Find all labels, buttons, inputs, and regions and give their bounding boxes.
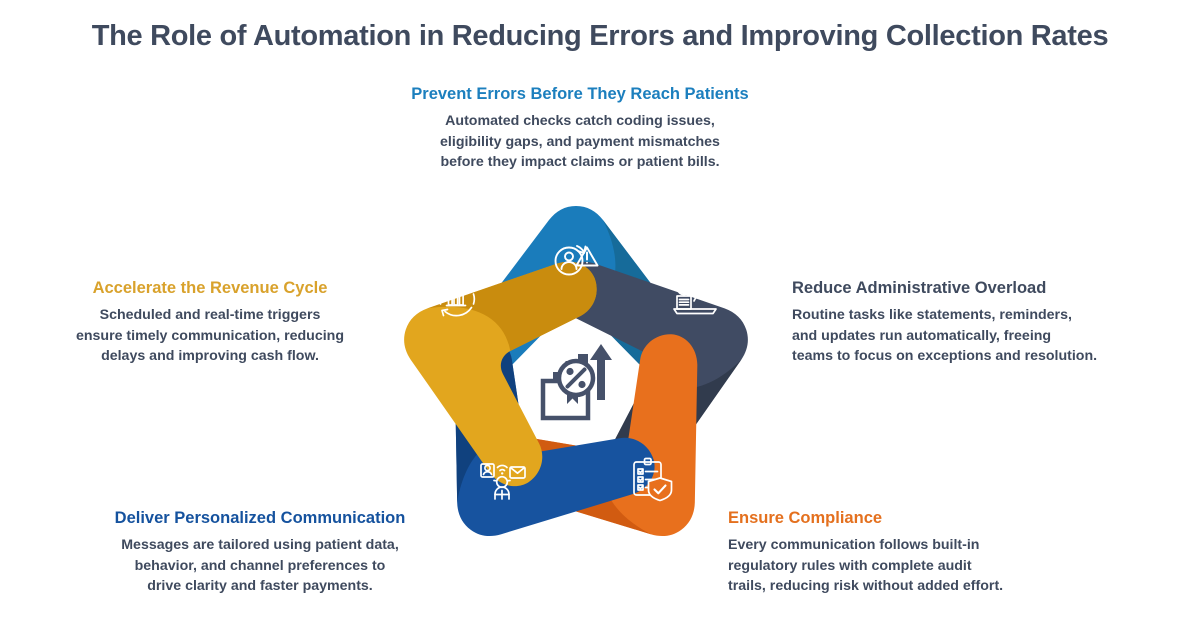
growth-chart-percent-icon [543,344,612,418]
section-prevent-errors: Prevent Errors Before They Reach Patient… [300,84,860,173]
section-body-line: Routine tasks like statements, reminders… [792,305,1132,326]
section-body-line: Automated checks catch coding issues, [300,111,860,132]
section-body-reduce-admin: Routine tasks like statements, reminders… [792,305,1132,368]
section-body-accelerate-revenue: Scheduled and real-time triggers ensure … [60,305,360,368]
section-body-line: ensure timely communication, reducing [60,326,360,347]
section-body-line: and updates run automatically, freeing [792,326,1132,347]
section-heading-prevent-errors: Prevent Errors Before They Reach Patient… [300,84,860,105]
section-body-prevent-errors: Automated checks catch coding issues, el… [300,111,860,174]
section-body-line: Scheduled and real-time triggers [60,305,360,326]
section-heading-reduce-admin: Reduce Administrative Overload [792,278,1132,299]
pentagon-cycle-diagram [356,170,796,600]
page-title: The Role of Automation in Reducing Error… [0,20,1200,53]
section-body-line: teams to focus on exceptions and resolut… [792,346,1132,367]
section-body-line: eligibility gaps, and payment mismatches [300,132,860,153]
section-body-line: delays and improving cash flow. [60,346,360,367]
section-accelerate-revenue: Accelerate the Revenue Cycle Scheduled a… [60,278,360,367]
section-heading-accelerate-revenue: Accelerate the Revenue Cycle [60,278,360,299]
section-reduce-admin: Reduce Administrative Overload Routine t… [792,278,1132,367]
